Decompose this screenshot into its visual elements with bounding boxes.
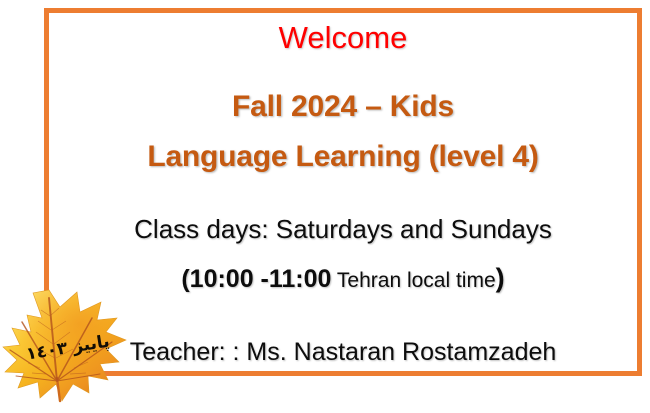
class-time-range: (10:00 -11:00 — [181, 265, 331, 293]
class-days-text: Class days: Saturdays and Sundays — [49, 212, 637, 246]
class-time-timezone: Tehran local time — [331, 269, 495, 292]
welcome-heading: Welcome — [49, 19, 637, 57]
class-time-text: (10:00 -11:00 Tehran local time) — [49, 261, 637, 298]
announcement-slide: Welcome Fall 2024 – Kids Language Learni… — [0, 0, 650, 413]
course-title-line-2: Language Learning (level 4) — [49, 137, 637, 177]
class-time-closing-paren: ) — [496, 263, 505, 293]
slide-text-content: Welcome Fall 2024 – Kids Language Learni… — [49, 13, 637, 371]
teacher-name-text: Teacher: : Ms. Nastaran Rostamzadeh — [49, 335, 637, 369]
course-title-line-1: Fall 2024 – Kids — [49, 87, 637, 127]
